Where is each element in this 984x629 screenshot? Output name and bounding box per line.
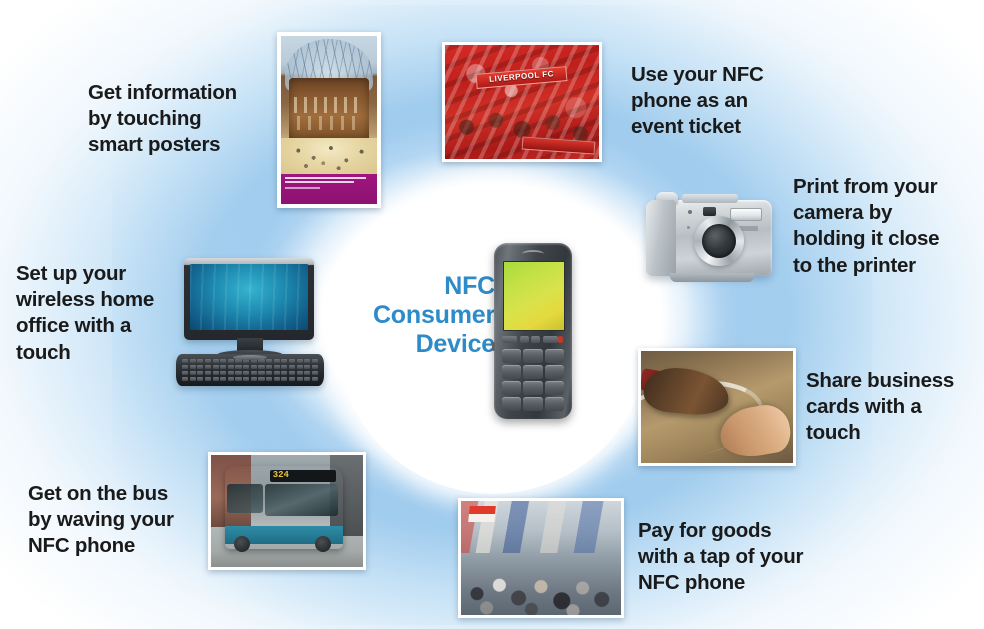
keyboard-key xyxy=(251,371,257,375)
keyboard-key xyxy=(312,365,318,369)
caption-line: touch xyxy=(806,420,954,446)
camera-flash xyxy=(730,208,762,221)
phone-softkeys xyxy=(501,334,565,346)
keyboard-key xyxy=(235,371,241,375)
caption-event-ticket: Use your NFC phone as an event ticket xyxy=(631,62,764,141)
football-fans-photo-inner: LIVERPOOL FC xyxy=(445,45,599,159)
keyboard-key xyxy=(190,371,196,375)
caption-line: by waving your xyxy=(28,507,174,533)
keyboard-key xyxy=(312,377,318,381)
keyboard-key xyxy=(297,365,303,369)
phone-keypad xyxy=(502,349,564,411)
bus-photo-inner: 324 xyxy=(211,455,363,567)
caption-camera-print: Print from your camera by holding it clo… xyxy=(793,174,939,279)
phone-nav-up xyxy=(520,336,529,343)
phone-key xyxy=(502,397,521,411)
phone-nav-ok xyxy=(531,336,540,343)
keyboard-key xyxy=(228,371,234,375)
keyboard-key xyxy=(243,371,249,375)
keyboard-key xyxy=(274,359,280,363)
keyboard-key xyxy=(258,359,264,363)
bus-wheel xyxy=(315,536,331,552)
smart-poster-image xyxy=(281,36,377,204)
poster-building xyxy=(289,78,369,140)
keyboard-key xyxy=(205,359,211,363)
keyboard-row xyxy=(182,377,318,381)
handshake-photo-inner xyxy=(641,351,793,463)
caption-smart-posters: Get information by touching smart poster… xyxy=(88,80,237,159)
keyboard-key xyxy=(289,359,295,363)
center-label-line-3: Device xyxy=(355,330,495,359)
handshake-image xyxy=(641,351,793,463)
keyboard-key xyxy=(228,377,234,381)
keyboard-key xyxy=(190,365,196,369)
keyboard-key xyxy=(197,359,203,363)
phone-key xyxy=(523,397,542,411)
caption-pay-for-goods: Pay for goods with a tap of your NFC pho… xyxy=(638,518,803,597)
bus-body: 324 xyxy=(225,466,344,549)
keyboard-key xyxy=(297,359,303,363)
camera-af-lamp xyxy=(687,226,690,229)
shopping-street-photo-inner xyxy=(461,501,621,615)
camera-viewfinder xyxy=(703,207,716,216)
poster-caption-line xyxy=(285,181,354,183)
keyboard-key xyxy=(266,365,272,369)
caption-line: phone as an xyxy=(631,88,764,114)
keyboard-key xyxy=(258,371,264,375)
center-label-line-1: NFC xyxy=(355,272,495,301)
caption-line: Pay for goods xyxy=(638,518,803,544)
caption-line: Use your NFC xyxy=(631,62,764,88)
phone-key xyxy=(545,365,564,379)
caption-line: wireless home xyxy=(16,287,154,313)
camera-lens xyxy=(694,216,744,266)
bus-road xyxy=(211,551,363,567)
keyboard-key xyxy=(182,359,188,363)
keyboard-key xyxy=(235,365,241,369)
caption-bus-travel: Get on the bus by waving your NFC phone xyxy=(28,481,174,560)
keyboard-key xyxy=(304,365,310,369)
center-label: NFC Consumer Device xyxy=(355,272,495,359)
keyboard-key xyxy=(228,365,234,369)
keyboard-key xyxy=(213,365,219,369)
handshake-photo xyxy=(638,348,796,466)
keyboard-key xyxy=(312,371,318,375)
shopping-street-image xyxy=(461,501,621,615)
phone-key xyxy=(523,381,542,395)
caption-line: to the printer xyxy=(793,253,939,279)
caption-line: with a tap of your xyxy=(638,544,803,570)
keyboard-key xyxy=(190,377,196,381)
street-banner xyxy=(468,506,495,522)
phone-softkey-right xyxy=(543,336,558,343)
nfc-consumer-device-infographic: NFC Consumer Device xyxy=(0,0,984,629)
keyboard-key xyxy=(289,371,295,375)
keyboard-key xyxy=(182,365,188,369)
caption-line: Get information xyxy=(88,80,237,106)
caption-line: touch xyxy=(16,340,154,366)
bus-wheel xyxy=(234,536,250,552)
keyboard-key xyxy=(251,377,257,381)
camera-base xyxy=(670,273,754,282)
keyboard-key xyxy=(243,365,249,369)
smart-poster-photo xyxy=(277,32,381,208)
keyboard-key xyxy=(304,371,310,375)
keyboard-key xyxy=(205,365,211,369)
phone-key xyxy=(523,349,542,363)
phone-key xyxy=(502,365,521,379)
computer-photo xyxy=(176,258,324,386)
camera-grip xyxy=(646,200,676,276)
keyboard-key xyxy=(205,371,211,375)
keyboard-key xyxy=(274,371,280,375)
keyboard-key xyxy=(213,377,219,381)
shopping-street-photo xyxy=(458,498,624,618)
keyboard-row xyxy=(182,371,318,375)
keyboard-key xyxy=(197,365,203,369)
phone-key xyxy=(545,349,564,363)
camera-body xyxy=(646,200,772,276)
smart-poster-photo-inner xyxy=(281,36,377,204)
keyboard-key xyxy=(182,377,188,381)
keyboard-key xyxy=(213,371,219,375)
keyboard-key xyxy=(289,377,295,381)
camera-top-plate xyxy=(682,194,738,203)
keyboard-key xyxy=(190,359,196,363)
digital-camera-photo xyxy=(634,178,786,294)
mobile-phone-icon xyxy=(494,243,572,419)
caption-line: NFC phone xyxy=(638,570,803,596)
keyboard-key xyxy=(281,377,287,381)
caption-line: Print from your xyxy=(793,174,939,200)
camera-sensor-dot xyxy=(688,210,692,214)
caption-line: NFC phone xyxy=(28,533,174,559)
keyboard-key xyxy=(197,377,203,381)
center-label-line-2: Consumer xyxy=(355,301,495,330)
bus-destination-display: 324 xyxy=(270,470,336,482)
keyboard-key xyxy=(243,377,249,381)
caption-line: Share business xyxy=(806,368,954,394)
keyboard-key xyxy=(289,365,295,369)
poster-caption-bar xyxy=(281,174,377,204)
bus-windscreen xyxy=(265,484,338,515)
keyboard-key xyxy=(197,371,203,375)
keyboard-key xyxy=(281,371,287,375)
keyboard-key xyxy=(304,377,310,381)
keyboard-key xyxy=(258,365,264,369)
bus-photo: 324 xyxy=(208,452,366,570)
poster-floor-crowd xyxy=(281,138,377,174)
bus-side-window xyxy=(227,484,263,512)
keyboard-key xyxy=(297,371,303,375)
keyboard-row xyxy=(182,365,318,369)
phone-end-key xyxy=(558,336,563,343)
keyboard-key xyxy=(304,359,310,363)
phone-side-button xyxy=(492,342,495,351)
keyboard xyxy=(176,354,324,386)
keyboard-key xyxy=(205,377,211,381)
phone-key xyxy=(502,381,521,395)
phone-softkey-left xyxy=(502,336,517,343)
phone-key xyxy=(545,381,564,395)
keyboard-key xyxy=(281,365,287,369)
monitor-screen xyxy=(190,264,308,330)
keyboard-key xyxy=(228,359,234,363)
keyboard-key xyxy=(182,371,188,375)
caption-line: holding it close xyxy=(793,226,939,252)
keyboard-key xyxy=(213,359,219,363)
keyboard-key xyxy=(235,377,241,381)
caption-line: cards with a xyxy=(806,394,954,420)
caption-line: Set up your xyxy=(16,261,154,287)
keyboard-key xyxy=(258,377,264,381)
keyboard-key xyxy=(274,377,280,381)
phone-key xyxy=(523,365,542,379)
poster-caption-line xyxy=(285,187,320,189)
phone-screen xyxy=(503,261,565,331)
caption-line: office with a xyxy=(16,313,154,339)
keyboard-logo-bar xyxy=(233,355,267,360)
keyboard-key xyxy=(312,359,318,363)
caption-line: camera by xyxy=(793,200,939,226)
phone-key xyxy=(502,349,521,363)
digital-camera-photo-inner xyxy=(634,178,786,294)
monitor xyxy=(184,258,314,340)
keyboard-key xyxy=(266,371,272,375)
football-fans-photo: LIVERPOOL FC xyxy=(442,42,602,162)
bus-image: 324 xyxy=(211,455,363,567)
keyboard-key xyxy=(220,377,226,381)
keyboard-key xyxy=(220,371,226,375)
caption-line: event ticket xyxy=(631,114,764,140)
keyboard-key xyxy=(297,377,303,381)
caption-line: Get on the bus xyxy=(28,481,174,507)
keyboard-key xyxy=(220,365,226,369)
keyboard-key xyxy=(266,377,272,381)
keyboard-key xyxy=(266,359,272,363)
keyboard-key xyxy=(220,359,226,363)
keyboard-key xyxy=(274,365,280,369)
caption-home-office: Set up your wireless home office with a … xyxy=(16,261,154,366)
poster-caption-line xyxy=(285,177,366,179)
caption-line: by touching xyxy=(88,106,237,132)
phone-key xyxy=(545,397,564,411)
caption-line: smart posters xyxy=(88,132,237,158)
caption-business-cards: Share business cards with a touch xyxy=(806,368,954,447)
keyboard-key xyxy=(281,359,287,363)
keyboard-rows xyxy=(182,359,318,381)
phone-earpiece xyxy=(522,250,544,258)
keyboard-key xyxy=(251,365,257,369)
